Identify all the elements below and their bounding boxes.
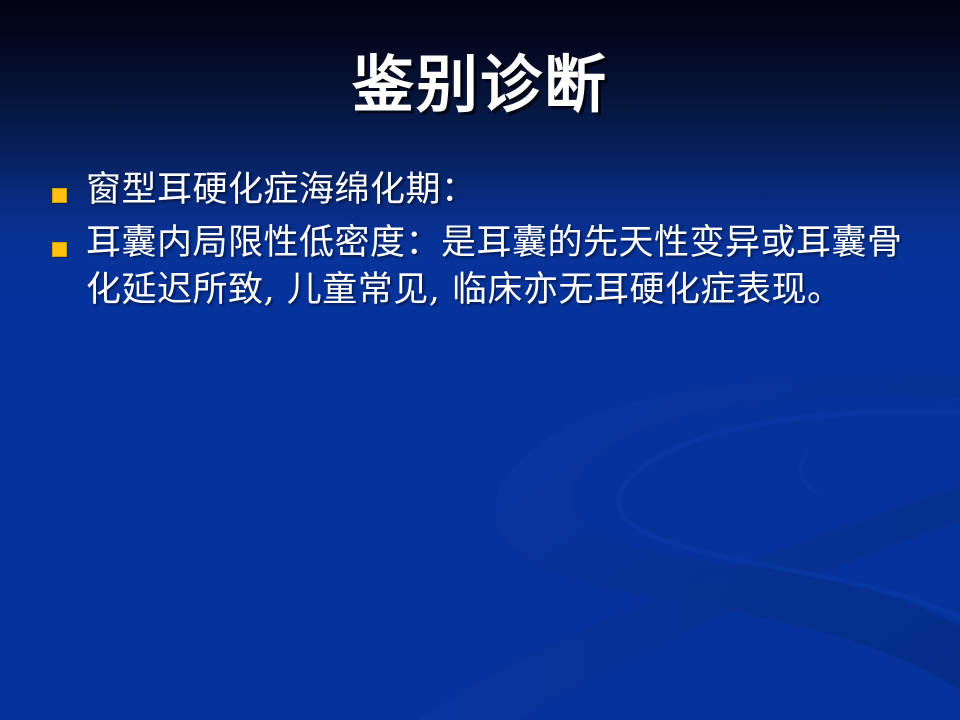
swoosh-upper-curve <box>495 375 960 690</box>
swoosh-lower-sweep <box>418 486 960 720</box>
list-item: 窗型耳硬化症海绵化期： <box>52 166 932 214</box>
page-title: 鉴别诊断 <box>0 48 960 122</box>
square-bullet-icon <box>52 242 67 257</box>
list-item: 耳囊内局限性低密度：是耳囊的先天性变异或耳囊骨化延迟所致, 儿童常见, 临床亦无… <box>52 220 932 314</box>
bullet-text: 窗型耳硬化症海绵化期： <box>86 166 932 214</box>
bullet-text: 耳囊内局限性低密度：是耳囊的先天性变异或耳囊骨化延迟所致, 儿童常见, 临床亦无… <box>86 220 932 314</box>
presentation-slide: 鉴别诊断 窗型耳硬化症海绵化期： 耳囊内局限性低密度：是耳囊的先天性变异或耳囊骨… <box>0 0 960 720</box>
slide-body: 窗型耳硬化症海绵化期： 耳囊内局限性低密度：是耳囊的先天性变异或耳囊骨化延迟所致… <box>52 166 932 320</box>
swoosh-inner-line <box>619 411 960 618</box>
square-bullet-icon <box>52 188 67 203</box>
swoosh-right-curl <box>799 398 960 504</box>
